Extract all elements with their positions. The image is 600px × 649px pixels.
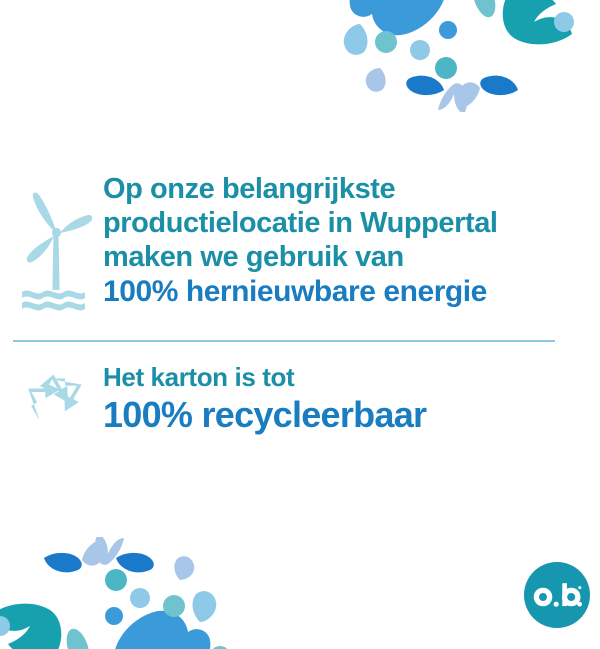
poster-canvas: Op onze belangrijkste productielocatie i… bbox=[0, 0, 600, 649]
section-renewable-energy: Op onze belangrijkste productielocatie i… bbox=[12, 172, 498, 311]
energy-line-2: productielocatie in Wuppertal bbox=[103, 206, 498, 240]
energy-copy: Op onze belangrijkste productielocatie i… bbox=[100, 172, 498, 310]
energy-line-4: 100% hernieuwbare energie bbox=[103, 274, 498, 310]
ob-logo[interactable] bbox=[524, 562, 590, 628]
recycle-line-1: Het karton is tot bbox=[103, 362, 426, 393]
energy-line-1: Op onze belangrijkste bbox=[103, 172, 498, 206]
recycling-icon bbox=[12, 362, 100, 436]
wind-turbine-icon bbox=[12, 172, 100, 311]
floral-ornament-top bbox=[268, 0, 600, 112]
floral-ornament-bottom bbox=[0, 537, 290, 649]
recycle-copy: Het karton is tot 100% recycleerbaar bbox=[100, 362, 426, 436]
energy-line-3: maken we gebruik van bbox=[103, 240, 498, 274]
recycle-line-2: 100% recycleerbaar bbox=[103, 393, 426, 436]
section-recyclable-carton: Het karton is tot 100% recycleerbaar bbox=[12, 362, 426, 436]
section-divider bbox=[13, 340, 555, 342]
